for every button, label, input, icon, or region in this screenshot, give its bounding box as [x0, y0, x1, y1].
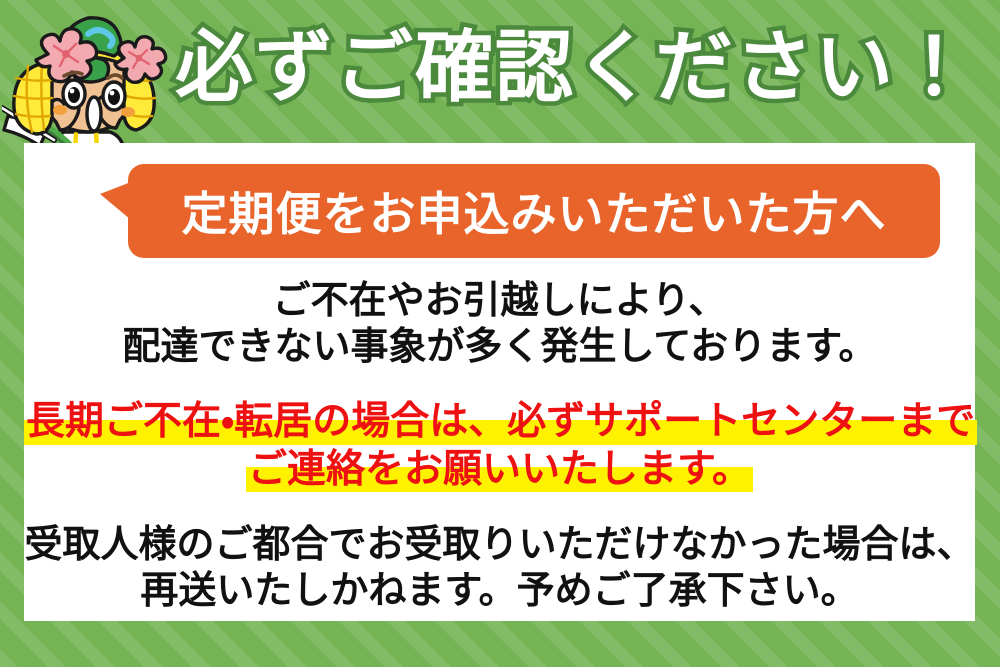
outro-line-1: 受取人様のご都合でお受取りいただけなかった場合は、 — [24, 522, 975, 568]
poster-title: 必ずご確認ください！ — [180, 8, 970, 128]
intro-line-1: ご不在やお引越しにより、 — [24, 278, 975, 324]
intro-paragraph: ご不在やお引越しにより、 配達できない事象が多く発生しております。 — [24, 278, 975, 371]
notice-poster: 基 必ずご確認ください！ 定期便をお申込みいただいた方へ ご不在やお引越しにより… — [0, 0, 1000, 667]
alert-line-1: 長期ご不在・転居の場合は、必ずサポートセンターまで — [24, 398, 977, 446]
banner-body: 定期便をお申込みいただいた方へ — [128, 164, 940, 258]
outro-paragraph: 受取人様のご都合でお受取りいただけなかった場合は、 再送いたしかねます。予めご了… — [24, 522, 975, 615]
alert-line-1-row: 長期ご不在・転居の場合は、必ずサポートセンターまで — [24, 398, 975, 446]
alert-line-2: ご連絡をお願いいたします。 — [246, 446, 753, 494]
poster-title-text: 必ずご確認ください！ — [175, 25, 975, 111]
banner: 定期便をお申込みいただいた方へ — [100, 164, 940, 258]
alert-line-2-row: ご連絡をお願いいたします。 — [24, 446, 975, 494]
intro-line-2: 配達できない事象が多く発生しております。 — [24, 324, 975, 370]
banner-text: 定期便をお申込みいただいた方へ — [182, 178, 887, 244]
outro-line-2: 再送いたしかねます。予めご了承下さい。 — [24, 568, 975, 614]
alert-paragraph: 長期ご不在・転居の場合は、必ずサポートセンターまで ご連絡をお願いいたします。 — [24, 398, 975, 493]
